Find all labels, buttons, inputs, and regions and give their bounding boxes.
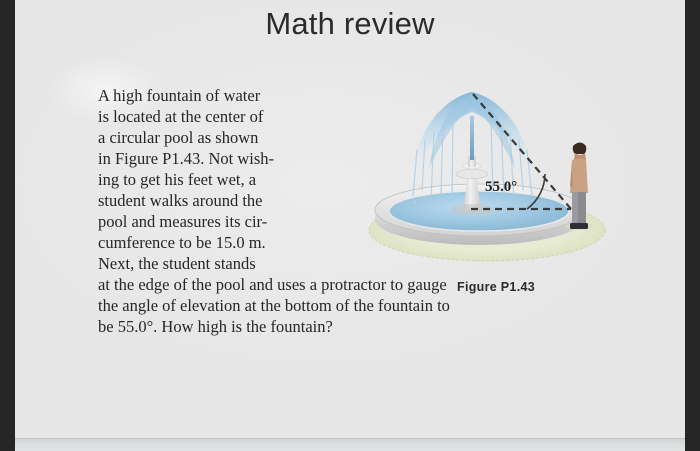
- problem-line: cumference to be 15.0 m.: [98, 232, 340, 253]
- problem-line: be 55.0°. How high is the fountain?: [98, 316, 603, 337]
- slide-canvas: Math review A high fountain of water is …: [15, 0, 685, 438]
- problem-line: ing to get his feet wet, a: [98, 169, 340, 190]
- problem-line: is located at the center of: [98, 106, 340, 127]
- problem-line: a circular pool as shown: [98, 127, 340, 148]
- bottom-divider: [15, 438, 685, 451]
- letterbox-right: [685, 0, 700, 451]
- figure-caption: Figure P1.43: [367, 280, 625, 294]
- fountain-illustration: [367, 78, 625, 273]
- problem-line: pool and measures its cir-: [98, 211, 340, 232]
- problem-line: in Figure P1.43. Not wish-: [98, 148, 340, 169]
- screen: Math review A high fountain of water is …: [0, 0, 700, 451]
- angle-label: 55.0°: [485, 179, 517, 196]
- problem-line: A high fountain of water: [98, 85, 340, 106]
- page-title: Math review: [15, 6, 685, 42]
- figure-p1-43: 55.0° Figure P1.43: [367, 78, 625, 308]
- problem-line: Next, the student stands: [98, 253, 340, 274]
- problem-line: student walks around the: [98, 190, 340, 211]
- letterbox-left: [0, 0, 15, 451]
- water-jet-column: [470, 116, 474, 160]
